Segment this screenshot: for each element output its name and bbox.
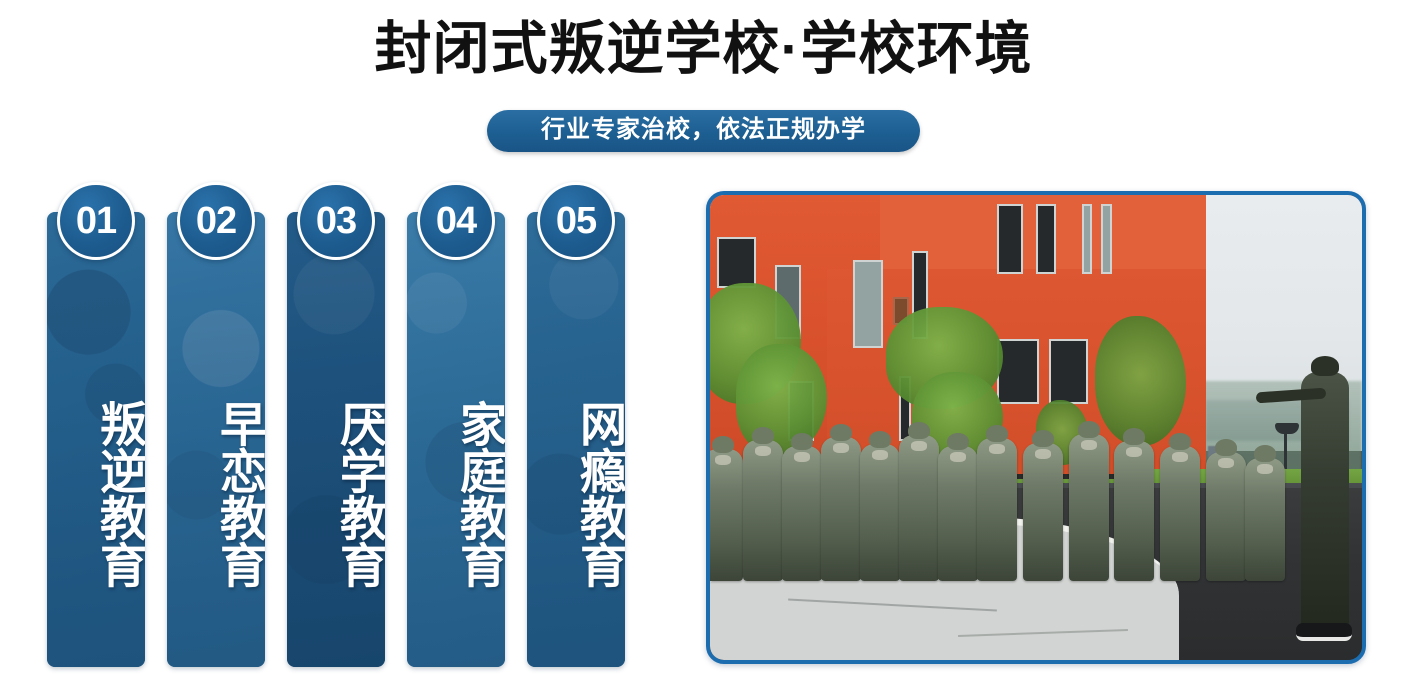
student bbox=[860, 444, 900, 581]
student bbox=[1160, 446, 1200, 581]
student bbox=[938, 446, 978, 581]
student bbox=[1023, 443, 1063, 581]
student bbox=[710, 449, 743, 581]
window bbox=[997, 339, 1039, 404]
student bbox=[899, 435, 939, 581]
card-number: 03 bbox=[316, 200, 356, 243]
card-number-badge: 04 bbox=[417, 182, 495, 260]
instructor bbox=[1301, 372, 1349, 632]
category-card[interactable]: 网瘾教育 bbox=[527, 212, 625, 667]
window bbox=[1101, 204, 1111, 274]
card-label: 叛逆教育 bbox=[47, 400, 145, 588]
student bbox=[1114, 441, 1154, 581]
category-card-list: 叛逆教育 01 早恋教育 02 厌学教育 03 bbox=[47, 182, 667, 668]
student bbox=[782, 446, 822, 581]
category-card[interactable]: 家庭教育 bbox=[407, 212, 505, 667]
student bbox=[743, 440, 783, 581]
window bbox=[1082, 204, 1092, 274]
poster-page: 封闭式叛逆学校·学校环境 行业专家治校，依法正规办学 叛逆教育 01 早恋教育 … bbox=[0, 0, 1407, 695]
category-card[interactable]: 叛逆教育 bbox=[47, 212, 145, 667]
student bbox=[1069, 434, 1109, 581]
card-number: 02 bbox=[196, 200, 236, 243]
campus-photo[interactable] bbox=[706, 191, 1366, 664]
subtitle-container: 行业专家治校，依法正规办学 bbox=[0, 110, 1407, 152]
card-label-box-1: 叛逆教育 bbox=[47, 304, 145, 667]
card-number: 05 bbox=[556, 200, 596, 243]
card-number: 01 bbox=[76, 200, 116, 243]
student bbox=[977, 438, 1017, 581]
window bbox=[1049, 339, 1088, 404]
card-label-box-4: 家庭教育 bbox=[407, 304, 505, 667]
card-number-badge: 05 bbox=[537, 182, 615, 260]
card-number-badge: 01 bbox=[57, 182, 135, 260]
window bbox=[1036, 204, 1056, 274]
card-label: 网瘾教育 bbox=[527, 400, 625, 588]
category-card[interactable]: 厌学教育 bbox=[287, 212, 385, 667]
student-formation bbox=[710, 428, 1362, 581]
student bbox=[1245, 458, 1285, 581]
card-label: 家庭教育 bbox=[407, 400, 505, 588]
card-label-box-5: 网瘾教育 bbox=[527, 304, 625, 667]
photo-scene bbox=[710, 195, 1362, 660]
page-title: 封闭式叛逆学校·学校环境 bbox=[0, 16, 1407, 83]
window bbox=[997, 204, 1023, 274]
card-number-badge: 02 bbox=[177, 182, 255, 260]
instructor-shoe bbox=[1296, 623, 1352, 641]
card-number-badge: 03 bbox=[297, 182, 375, 260]
card-label-box-3: 厌学教育 bbox=[287, 304, 385, 667]
student bbox=[1206, 452, 1246, 581]
category-card[interactable]: 早恋教育 bbox=[167, 212, 265, 667]
card-label: 厌学教育 bbox=[287, 400, 385, 588]
window bbox=[717, 237, 756, 288]
window bbox=[853, 260, 882, 348]
card-label: 早恋教育 bbox=[167, 400, 265, 588]
card-number: 04 bbox=[436, 200, 476, 243]
card-label-box-2: 早恋教育 bbox=[167, 304, 265, 667]
student bbox=[821, 437, 861, 581]
subtitle-badge: 行业专家治校，依法正规办学 bbox=[487, 110, 920, 152]
